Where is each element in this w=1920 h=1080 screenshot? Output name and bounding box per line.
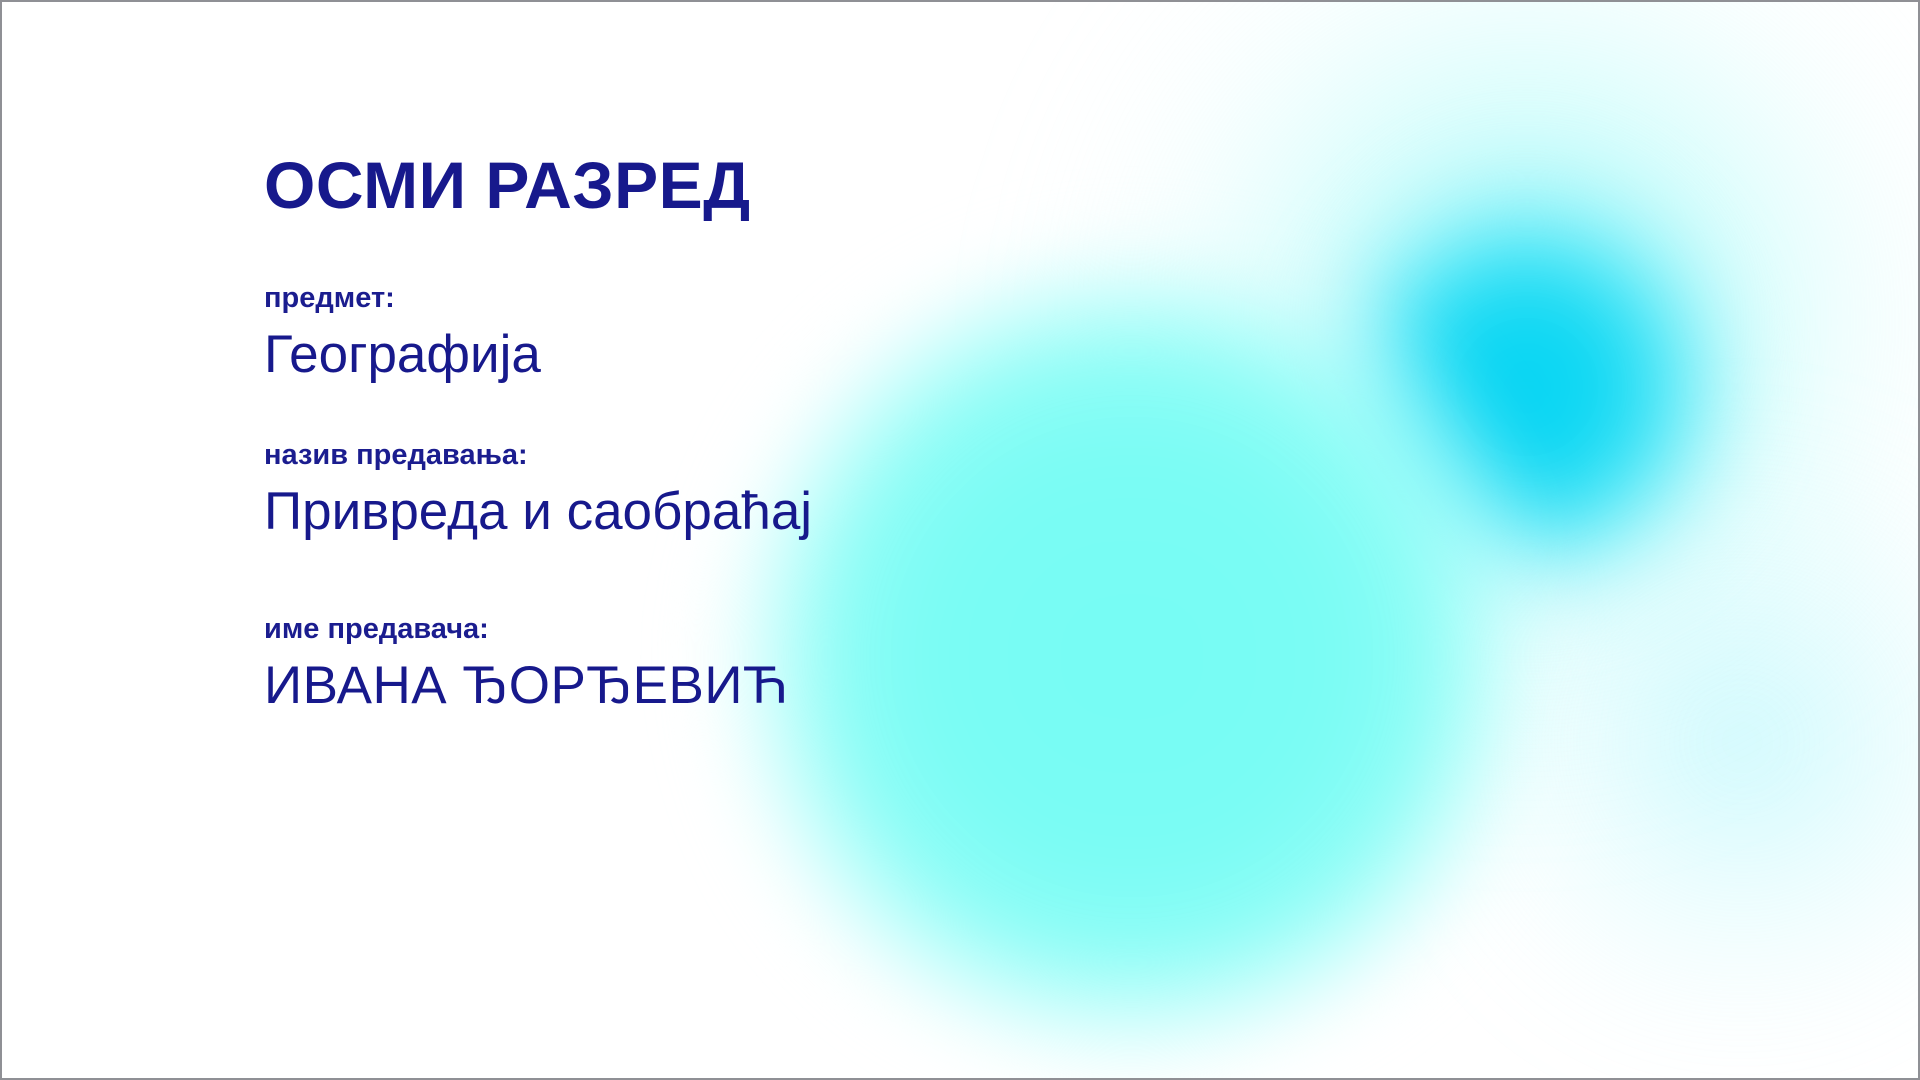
edge-bloom-orb xyxy=(1422,432,1918,1052)
label-lesson-title: назив предавања: xyxy=(264,437,1244,473)
value-lesson-title: Привреда и саобраћај xyxy=(264,482,1244,541)
text-block: ОСМИ РАЗРЕД предмет: Географија назив пр… xyxy=(264,152,1244,716)
cyan-circle-orb xyxy=(1292,152,1762,622)
label-lecturer: име предавача: xyxy=(264,611,1244,647)
field-group-lecturer: име предавача: ИВАНА ЂОРЂЕВИЋ xyxy=(264,611,1244,716)
field-group-lesson-title: назив предавања: Привреда и саобраћај xyxy=(264,437,1244,542)
field-group-subject: предмет: Географија xyxy=(264,280,1244,385)
title-card: ОСМИ РАЗРЕД предмет: Географија назив пр… xyxy=(0,0,1920,1080)
value-lecturer: ИВАНА ЂОРЂЕВИЋ xyxy=(264,656,1244,715)
value-subject: Географија xyxy=(264,325,1244,384)
page-title: ОСМИ РАЗРЕД xyxy=(264,152,1244,218)
label-subject: предмет: xyxy=(264,280,1244,316)
